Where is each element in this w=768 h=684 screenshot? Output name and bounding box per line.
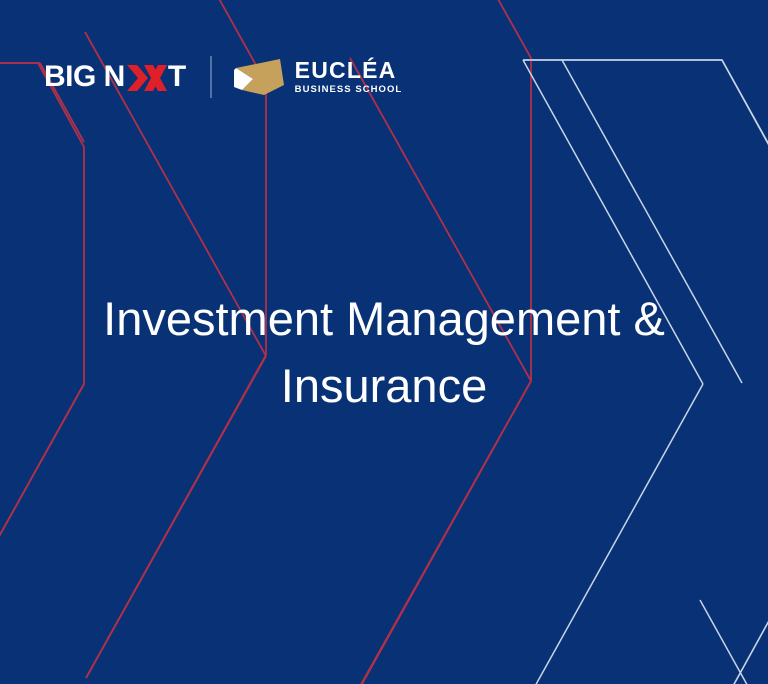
white-line-2 bbox=[524, 384, 703, 684]
red-line-c2 bbox=[352, 381, 531, 684]
title-container: Investment Management & Insurance bbox=[0, 286, 768, 419]
chevron-right-shape bbox=[127, 65, 148, 91]
euclea-logo[interactable]: EUCLÉA BUSINESS SCHOOL bbox=[234, 57, 403, 97]
euclea-shield-icon bbox=[234, 57, 286, 97]
presentation-slide: BIG N T EUCLÉA BUSINESS SCHOOL bbox=[0, 0, 768, 684]
bignxt-logo[interactable]: BIG N T bbox=[44, 60, 186, 94]
euclea-subtitle: BUSINESS SCHOOL bbox=[295, 85, 403, 95]
double-chevron-x-icon bbox=[127, 65, 167, 91]
slide-title: Investment Management & Insurance bbox=[0, 286, 768, 419]
logo-divider bbox=[210, 56, 212, 98]
logo-bar: BIG N T EUCLÉA BUSINESS SCHOOL bbox=[44, 52, 402, 102]
red-line-a3 bbox=[0, 384, 84, 684]
bignxt-text-after: T bbox=[168, 62, 186, 92]
bignxt-text-before: BIG N bbox=[44, 62, 125, 92]
white-outer-line-4 bbox=[700, 600, 768, 684]
euclea-name: EUCLÉA bbox=[295, 59, 403, 82]
euclea-wordmark: EUCLÉA BUSINESS SCHOOL bbox=[295, 59, 403, 95]
